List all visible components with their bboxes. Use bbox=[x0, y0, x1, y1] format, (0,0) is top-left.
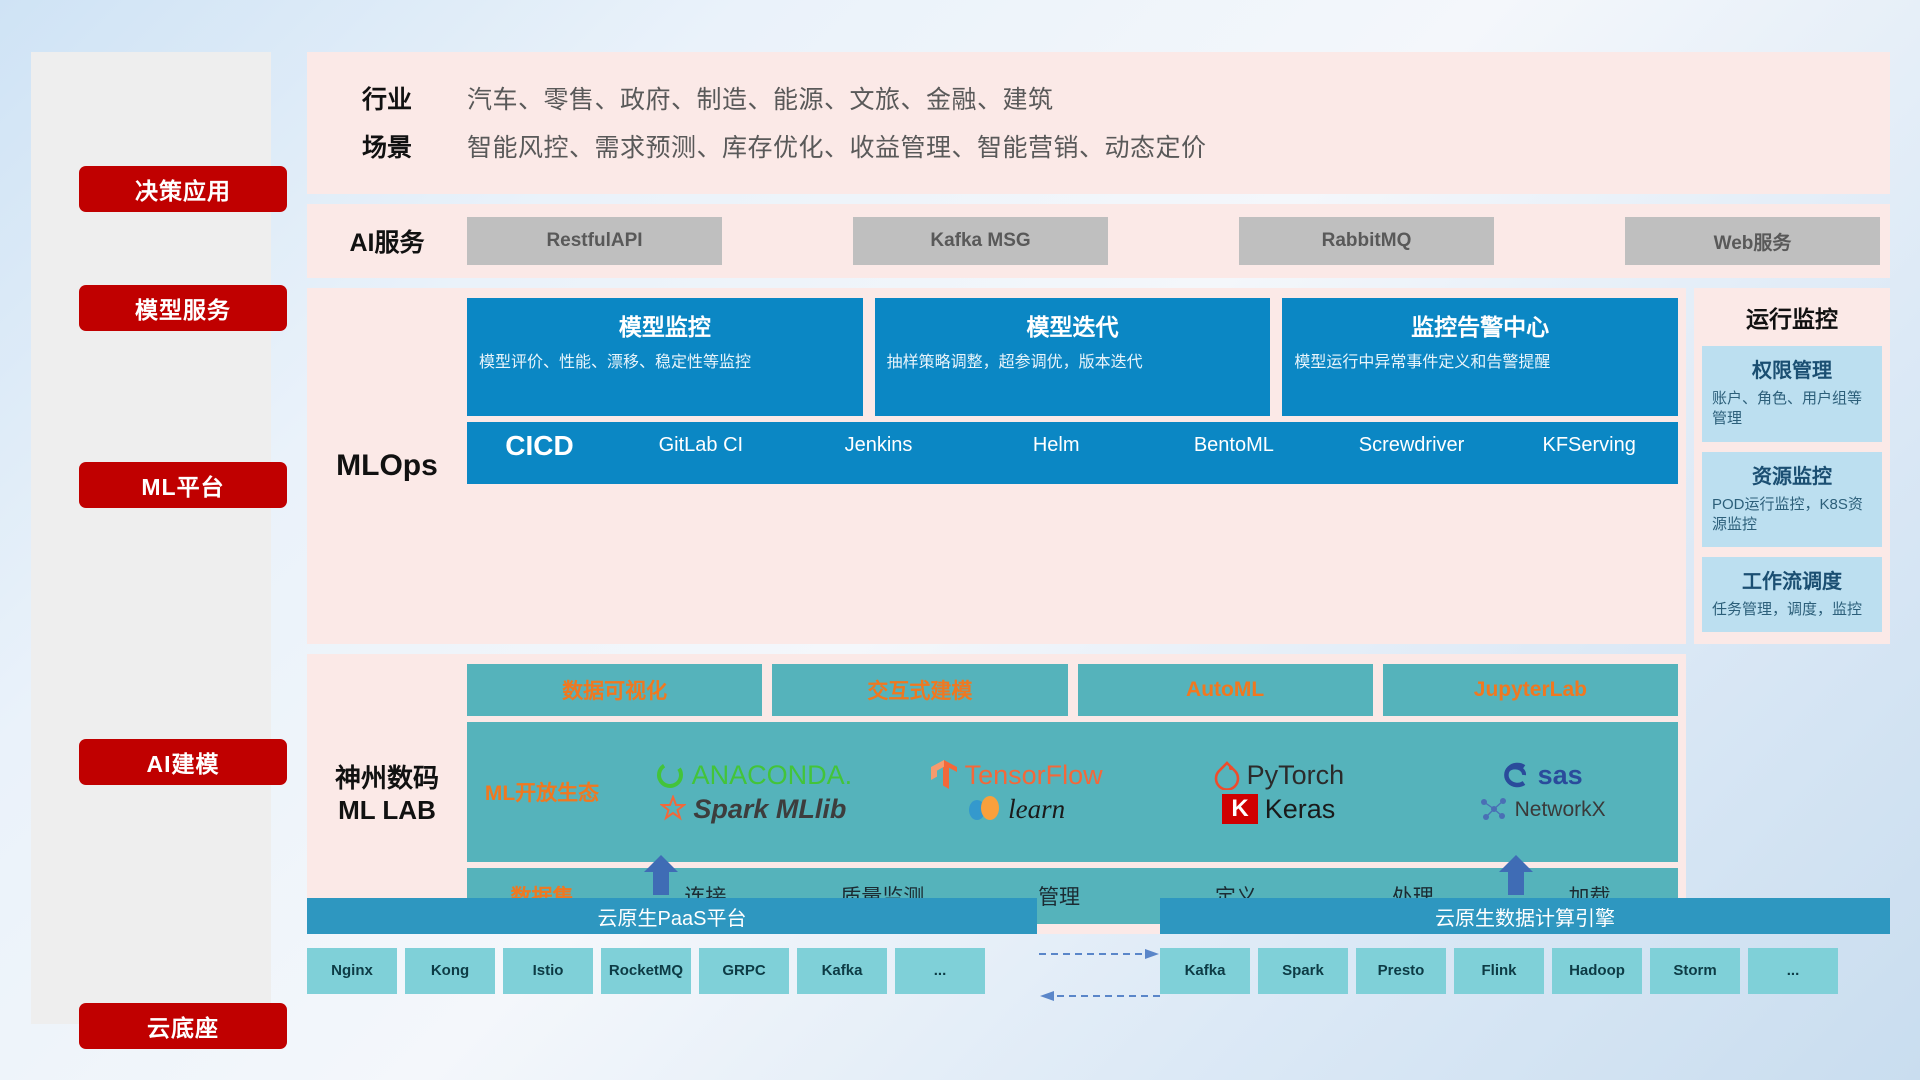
layer-chip-cloud-base[interactable]: 云底座 bbox=[79, 1003, 287, 1049]
cloud-pill-kafka[interactable]: Kafka bbox=[1160, 948, 1250, 994]
scenario-row: 场景 智能风控、需求预测、库存优化、收益管理、智能营销、动态定价 bbox=[307, 122, 1890, 170]
mlops-card-alert-center[interactable]: 监控告警中心 模型运行中异常事件定义和告警提醒 bbox=[1282, 298, 1678, 416]
layer-chip-ai-modeling[interactable]: AI建模 bbox=[79, 739, 287, 785]
main-column: 行业 汽车、零售、政府、制造、能源、文旅、金融、建筑 场景 智能风控、需求预测、… bbox=[307, 52, 1890, 934]
cloud-pill-more[interactable]: ... bbox=[1748, 948, 1838, 994]
mlops-band: MLOps 模型监控 模型评价、性能、漂移、稳定性等监控 模型迭代 抽样策略调整… bbox=[307, 288, 1686, 644]
monitor-card-workflow[interactable]: 工作流调度 任务管理，调度，监控 bbox=[1702, 557, 1882, 632]
cicd-bar: CICD GitLab CI Jenkins Helm BentoML Scre… bbox=[467, 422, 1678, 484]
logo-text: ANACONDA. bbox=[692, 760, 853, 791]
arrow-up-engine-icon bbox=[1499, 855, 1533, 895]
lab-tab-data-viz[interactable]: 数据可视化 bbox=[467, 664, 762, 716]
industry-value: 汽车、零售、政府、制造、能源、文旅、金融、建筑 bbox=[467, 80, 1054, 116]
cicd-item-jenkins[interactable]: Jenkins bbox=[790, 430, 968, 461]
networkx-icon bbox=[1478, 795, 1508, 823]
cicd-item-gitlab[interactable]: GitLab CI bbox=[612, 430, 790, 461]
ai-service-items: RestfulAPI Kafka MSG RabbitMQ Web服务 bbox=[467, 217, 1890, 265]
layer-chip-label: 决策应用 bbox=[135, 172, 231, 206]
cloud-connector-arrows bbox=[1037, 944, 1162, 1006]
ai-service-band: AI服务 RestfulAPI Kafka MSG RabbitMQ Web服务 bbox=[307, 204, 1890, 278]
lab-tab-interactive-modeling[interactable]: 交互式建模 bbox=[772, 664, 1067, 716]
mlops-card-model-iteration[interactable]: 模型迭代 抽样策略调整，超参调优，版本迭代 bbox=[875, 298, 1271, 416]
cicd-item-bentoml[interactable]: BentoML bbox=[1145, 430, 1323, 461]
cloud-pill-istio[interactable]: Istio bbox=[503, 948, 593, 994]
ml-lab-tabs: 数据可视化 交互式建模 AutoML JupyterLab bbox=[467, 664, 1678, 716]
cloud-pill-presto[interactable]: Presto bbox=[1356, 948, 1446, 994]
ml-lab-band: 神州数码 ML LAB 数据可视化 交互式建模 AutoML JupyterLa… bbox=[307, 654, 1686, 934]
ai-service-item[interactable]: RabbitMQ bbox=[1239, 217, 1494, 265]
layer-chip-ml-platform[interactable]: ML平台 bbox=[79, 462, 287, 508]
lab-tab-jupyterlab[interactable]: JupyterLab bbox=[1383, 664, 1678, 716]
cloud-pill-storm[interactable]: Storm bbox=[1650, 948, 1740, 994]
industry-row: 行业 汽车、零售、政府、制造、能源、文旅、金融、建筑 bbox=[307, 74, 1890, 122]
card-title: 资源监控 bbox=[1712, 460, 1872, 489]
industry-scenario-band: 行业 汽车、零售、政府、制造、能源、文旅、金融、建筑 场景 智能风控、需求预测、… bbox=[307, 52, 1890, 194]
ai-service-label: AI服务 bbox=[307, 223, 467, 259]
card-desc: POD运行监控，K8S资源监控 bbox=[1712, 495, 1872, 536]
cloud-pill-more[interactable]: ... bbox=[895, 948, 985, 994]
ml-lab-wrap: 神州数码 ML LAB 数据可视化 交互式建模 AutoML JupyterLa… bbox=[307, 654, 1890, 934]
industry-key: 行业 bbox=[307, 80, 467, 116]
logo-text: sas bbox=[1538, 760, 1583, 791]
ml-lab-label-line1: 神州数码 bbox=[335, 763, 439, 793]
networkx-logo: NetworkX bbox=[1478, 795, 1606, 823]
anaconda-logo: ANACONDA. bbox=[655, 760, 853, 791]
ml-ecosystem-logos: ANACONDA. TensorFlow bbox=[617, 753, 1678, 831]
layer-chip-label: ML平台 bbox=[141, 468, 224, 502]
pytorch-icon bbox=[1214, 760, 1240, 790]
tensorflow-icon bbox=[930, 759, 958, 791]
mlops-cards: 模型监控 模型评价、性能、漂移、稳定性等监控 模型迭代 抽样策略调整，超参调优，… bbox=[467, 298, 1678, 416]
scikit-learn-logo: learn bbox=[967, 794, 1065, 825]
ml-ecosystem-label: ML开放生态 bbox=[467, 777, 617, 807]
cicd-item-screwdriver[interactable]: Screwdriver bbox=[1323, 430, 1501, 461]
ml-lab-label-line2: ML LAB bbox=[338, 795, 436, 825]
pytorch-logo: PyTorch bbox=[1214, 760, 1345, 791]
mlops-monitor-wrap: MLOps 模型监控 模型评价、性能、漂移、稳定性等监控 模型迭代 抽样策略调整… bbox=[307, 288, 1890, 644]
scenario-key: 场景 bbox=[307, 128, 467, 164]
layer-chip-label: AI建模 bbox=[147, 745, 220, 779]
cloud-paas-title: 云原生PaaS平台 bbox=[307, 898, 1037, 934]
spark-mllib-logo: Spark MLlib bbox=[660, 794, 846, 825]
layer-chip-label: 云底座 bbox=[147, 1009, 219, 1043]
spark-star-icon bbox=[660, 795, 686, 823]
cloud-pill-kafka[interactable]: Kafka bbox=[797, 948, 887, 994]
cloud-pill-nginx[interactable]: Nginx bbox=[307, 948, 397, 994]
architecture-diagram: 决策应用 模型服务 ML平台 AI建模 云底座 行业 汽车、零售、政府、制造、能… bbox=[0, 0, 1920, 1080]
ml-lab-label: 神州数码 ML LAB bbox=[307, 664, 467, 924]
sas-logo: sas bbox=[1501, 760, 1583, 791]
card-desc: 模型评价、性能、漂移、稳定性等监控 bbox=[479, 352, 851, 374]
cloud-base-section: 云原生PaaS平台 Nginx Kong Istio RocketMQ GRPC… bbox=[307, 898, 1890, 1024]
card-desc: 账户、角色、用户组等管理 bbox=[1712, 389, 1872, 430]
layer-chip-decision-app[interactable]: 决策应用 bbox=[79, 166, 287, 212]
logo-text: NetworkX bbox=[1515, 799, 1606, 820]
mlops-content: 模型监控 模型评价、性能、漂移、稳定性等监控 模型迭代 抽样策略调整，超参调优，… bbox=[467, 298, 1686, 634]
runtime-monitor-title: 运行监控 bbox=[1746, 300, 1838, 334]
keras-k-icon: K bbox=[1222, 794, 1257, 824]
monitor-card-permission[interactable]: 权限管理 账户、角色、用户组等管理 bbox=[1702, 346, 1882, 442]
logo-text: learn bbox=[1008, 794, 1065, 825]
card-title: 模型监控 bbox=[479, 308, 851, 342]
ai-service-item[interactable]: RestfulAPI bbox=[467, 217, 722, 265]
cloud-pill-kong[interactable]: Kong bbox=[405, 948, 495, 994]
sas-icon bbox=[1501, 761, 1531, 789]
tensorflow-logo: TensorFlow bbox=[930, 759, 1103, 791]
card-title: 权限管理 bbox=[1712, 354, 1872, 383]
cloud-engine-column: 云原生数据计算引擎 Kafka Spark Presto Flink Hadoo… bbox=[1160, 898, 1890, 994]
keras-logo: K Keras bbox=[1222, 794, 1335, 825]
card-desc: 抽样策略调整，超参调优，版本迭代 bbox=[887, 352, 1259, 374]
cloud-paas-column: 云原生PaaS平台 Nginx Kong Istio RocketMQ GRPC… bbox=[307, 898, 1037, 994]
cloud-paas-items: Nginx Kong Istio RocketMQ GRPC Kafka ... bbox=[307, 948, 1037, 994]
cloud-pill-flink[interactable]: Flink bbox=[1454, 948, 1544, 994]
cloud-pill-hadoop[interactable]: Hadoop bbox=[1552, 948, 1642, 994]
anaconda-icon bbox=[655, 760, 685, 790]
cloud-engine-title: 云原生数据计算引擎 bbox=[1160, 898, 1890, 934]
layer-chip-label: 模型服务 bbox=[135, 291, 231, 325]
lab-tab-automl[interactable]: AutoML bbox=[1078, 664, 1373, 716]
cloud-pill-spark[interactable]: Spark bbox=[1258, 948, 1348, 994]
mlops-label: MLOps bbox=[307, 298, 467, 634]
monitor-card-resource[interactable]: 资源监控 POD运行监控，K8S资源监控 bbox=[1702, 452, 1882, 548]
logo-text: Keras bbox=[1265, 794, 1336, 825]
logo-text: Spark MLlib bbox=[693, 794, 846, 825]
cloud-pill-rocketmq[interactable]: RocketMQ bbox=[601, 948, 691, 994]
scenario-value: 智能风控、需求预测、库存优化、收益管理、智能营销、动态定价 bbox=[467, 128, 1207, 164]
card-desc: 任务管理，调度，监控 bbox=[1712, 600, 1872, 620]
card-title: 模型迭代 bbox=[887, 308, 1259, 342]
lab-right-spacer bbox=[1694, 654, 1890, 934]
cloud-engine-items: Kafka Spark Presto Flink Hadoop Storm ..… bbox=[1160, 948, 1890, 994]
layer-chip-model-service[interactable]: 模型服务 bbox=[79, 285, 287, 331]
card-desc: 模型运行中异常事件定义和告警提醒 bbox=[1294, 352, 1666, 374]
cicd-title: CICD bbox=[467, 430, 612, 462]
mlops-card-model-monitoring[interactable]: 模型监控 模型评价、性能、漂移、稳定性等监控 bbox=[467, 298, 863, 416]
ai-service-item[interactable]: Kafka MSG bbox=[853, 217, 1108, 265]
card-title: 工作流调度 bbox=[1712, 565, 1872, 594]
logo-text: PyTorch bbox=[1247, 760, 1345, 791]
ml-ecosystem-row: ML开放生态 ANACONDA. bbox=[467, 722, 1678, 862]
runtime-monitor-panel: 运行监控 权限管理 账户、角色、用户组等管理 资源监控 POD运行监控，K8S资… bbox=[1694, 288, 1890, 644]
logo-text: TensorFlow bbox=[965, 760, 1103, 791]
layer-rail: 决策应用 模型服务 ML平台 AI建模 云底座 bbox=[31, 52, 271, 1024]
cicd-item-helm[interactable]: Helm bbox=[967, 430, 1145, 461]
scikit-learn-icon bbox=[967, 794, 1001, 824]
cloud-pill-grpc[interactable]: GRPC bbox=[699, 948, 789, 994]
cicd-item-kfserving[interactable]: KFServing bbox=[1500, 430, 1678, 461]
arrow-up-paas-icon bbox=[644, 855, 678, 895]
card-title: 监控告警中心 bbox=[1294, 308, 1666, 342]
ai-service-item[interactable]: Web服务 bbox=[1625, 217, 1880, 265]
